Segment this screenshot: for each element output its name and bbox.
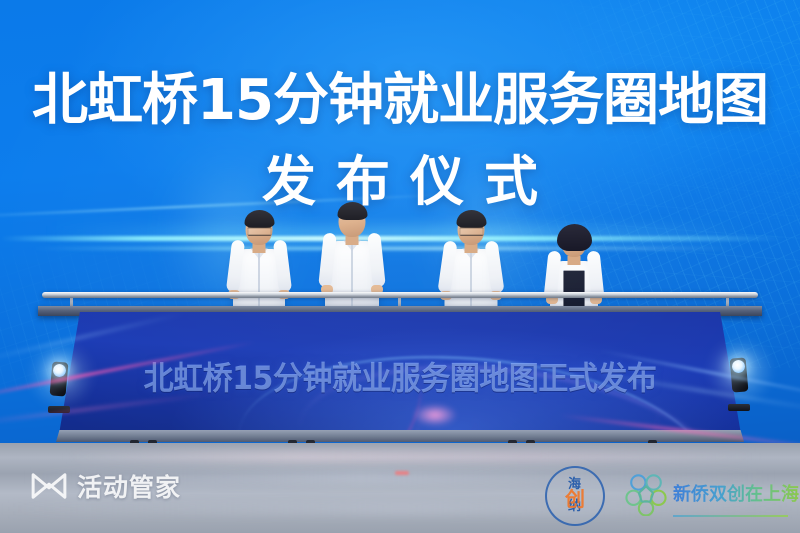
participant-4-head — [562, 226, 587, 257]
participant-1-head — [246, 212, 273, 245]
floor-reflection-1 — [0, 452, 800, 461]
stage-light-right-base — [728, 404, 750, 411]
participant-2-shirt-placket — [351, 245, 353, 311]
bowtie-mark-icon — [30, 472, 68, 500]
brand-label: 新侨双创在上海 — [673, 480, 799, 506]
stage-light-right — [724, 352, 758, 418]
participant-3-glasses — [459, 227, 483, 236]
participant-1-glasses — [247, 227, 271, 236]
headline-line-2: 发布仪式 — [0, 152, 800, 212]
participant-3-head — [458, 212, 485, 245]
stage-light-left — [44, 356, 78, 418]
launch-podium: 北虹桥15分钟就业服务圈地图正式发布 — [58, 312, 742, 440]
event-photo: 北虹桥15分钟就业服务圈地图 发布仪式 — [0, 0, 800, 533]
participant-2-neck — [346, 236, 359, 245]
participant-1 — [228, 210, 290, 315]
watermark-label: 活动管家 — [77, 468, 181, 504]
headline-line-1: 北虹桥15分钟就业服务圈地图 — [0, 70, 800, 132]
knot-emblem-icon — [625, 470, 667, 516]
podium-base — [56, 430, 744, 442]
participant-1-neck — [253, 244, 266, 253]
participant-4-hair — [557, 224, 592, 251]
participant-4-neck — [568, 256, 581, 265]
stage-light-left-lens — [53, 364, 66, 377]
stage-light-right-lens — [732, 360, 745, 373]
participant-3-neck — [465, 244, 478, 253]
brand-underline — [673, 515, 788, 517]
participant-3-hair — [456, 210, 486, 228]
participant-2-head — [339, 204, 366, 237]
brand-logo: 新侨双创在上海 — [625, 470, 799, 516]
podium-banner-text: 北虹桥15分钟就业服务圈地图正式发布 — [58, 352, 742, 399]
participant-3 — [440, 211, 502, 315]
seal-logo: 海 纳 创 — [545, 466, 605, 526]
participant-2-hair — [337, 202, 367, 220]
rail-touch-bar[interactable] — [42, 292, 758, 298]
stage-light-left-base — [48, 406, 70, 413]
floor-red-light-spot — [395, 471, 409, 475]
participant-1-hair — [244, 210, 274, 228]
watermark-logo: 活动管家 — [30, 468, 181, 504]
seal-center-text: 创 — [547, 483, 603, 512]
podium-ribbon-glow — [413, 404, 457, 426]
